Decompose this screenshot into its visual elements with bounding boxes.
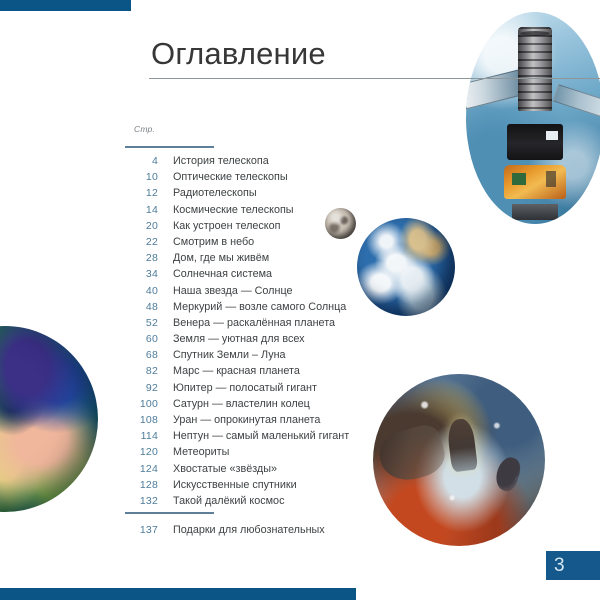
toc-entry-title: Солнечная система xyxy=(173,268,272,280)
toc-entry-page: 12 xyxy=(125,187,158,199)
page-column-label: Стр. xyxy=(134,124,155,134)
toc-entry[interactable]: 20 Как устроен телескоп xyxy=(125,220,425,236)
toc-entry-page: 108 xyxy=(125,414,158,426)
toc-entry[interactable]: 68 Спутник Земли – Луна xyxy=(125,349,425,365)
toc-entry-page: 48 xyxy=(125,301,158,313)
toc-entry-page: 114 xyxy=(125,430,158,442)
toc-entry-title: Искусственные спутники xyxy=(173,479,297,491)
toc-entry-title: Венера — раскалённая планета xyxy=(173,317,335,329)
solar-panel-right xyxy=(553,84,600,120)
toc-entry-page: 128 xyxy=(125,479,158,491)
toc-entry-title: Нептун — самый маленький гигант xyxy=(173,430,349,442)
toc-entry-page: 28 xyxy=(125,252,158,264)
telescope-gold-foil-module xyxy=(504,165,566,199)
venus-radar-globe-photo xyxy=(0,326,98,512)
nebula-dark-globule xyxy=(492,454,523,493)
page-number-badge: 3 xyxy=(546,551,600,580)
top-accent-bar xyxy=(0,0,131,11)
telescope-instrument-bay xyxy=(507,124,563,160)
page-title: Оглавление xyxy=(151,36,326,72)
toc-entry[interactable]: 14 Космические телескопы xyxy=(125,204,425,220)
toc-entry-title: Спутник Земли – Луна xyxy=(173,349,286,361)
toc-entry-title: Земля — уютная для всех xyxy=(173,333,305,345)
toc-entry-title: Уран — опрокинутая планета xyxy=(173,414,320,426)
toc-entry-page: 132 xyxy=(125,495,158,507)
toc-entry-title: Такой далёкий космос xyxy=(173,495,284,507)
toc-entry-page: 20 xyxy=(125,220,158,232)
toc-entry[interactable]: 52 Венера — раскалённая планета xyxy=(125,317,425,333)
toc-entry-page: 52 xyxy=(125,317,158,329)
toc-entry-title: Хвостатые «звёзды» xyxy=(173,463,277,475)
toc-entry[interactable]: 10 Оптические телескопы xyxy=(125,171,425,187)
toc-entry[interactable]: 4 История телескопа xyxy=(125,155,425,171)
telescope-tube-rings xyxy=(518,27,552,111)
toc-entry[interactable]: 34 Солнечная система xyxy=(125,268,425,284)
toc-entry[interactable]: 60 Земля — уютная для всех xyxy=(125,333,425,349)
toc-entry-page: 14 xyxy=(125,204,158,216)
toc-entry[interactable]: 22 Смотрим в небо xyxy=(125,236,425,252)
toc-entry[interactable]: 108 Уран — опрокинутая планета xyxy=(125,414,425,430)
toc-entry[interactable]: 114 Нептун — самый маленький гигант xyxy=(125,430,425,446)
toc-entry-title: Дом, где мы живём xyxy=(173,252,269,264)
toc-entry-title: Сатурн — властелин колец xyxy=(173,398,310,410)
toc-entry-page: 124 xyxy=(125,463,158,475)
toc-entry-page: 100 xyxy=(125,398,158,410)
toc-entry-title: Смотрим в небо xyxy=(173,236,254,248)
toc-section-divider xyxy=(125,512,214,514)
toc-entry-title: Наша звезда — Солнце xyxy=(173,285,293,297)
toc-entry[interactable]: 82 Марс — красная планета xyxy=(125,365,425,381)
toc-entry[interactable]: 12 Радиотелескопы xyxy=(125,187,425,203)
toc-entry-page: 60 xyxy=(125,333,158,345)
toc-entry-title: История телескопа xyxy=(173,155,269,167)
toc-entry[interactable]: 124 Хвостатые «звёзды» xyxy=(125,463,425,479)
toc-page: Оглавление Стр. 4 История телескопа 10 О… xyxy=(0,0,600,600)
toc-entry-title: Меркурий — возле самого Солнца xyxy=(173,301,346,313)
toc-entry-title: Как устроен телескоп xyxy=(173,220,280,232)
toc-entry-title: Метеориты xyxy=(173,446,229,458)
table-of-contents-extras: 137 Подарки для любознательных xyxy=(125,524,425,540)
page-column-divider xyxy=(125,146,214,148)
toc-entry-title: Оптические телескопы xyxy=(173,171,288,183)
toc-entry-title: Космические телескопы xyxy=(173,204,294,216)
toc-entry-page: 82 xyxy=(125,365,158,377)
toc-entry-page: 137 xyxy=(125,524,158,536)
toc-entry-page: 120 xyxy=(125,446,158,458)
toc-entry-page: 4 xyxy=(125,155,158,167)
toc-entry-title: Марс — красная планета xyxy=(173,365,300,377)
toc-entry-page: 34 xyxy=(125,268,158,280)
toc-entry[interactable]: 100 Сатурн — властелин колец xyxy=(125,398,425,414)
toc-entry-page: 22 xyxy=(125,236,158,248)
bottom-accent-bar xyxy=(0,588,356,600)
toc-entry[interactable]: 48 Меркурий — возле самого Солнца xyxy=(125,301,425,317)
toc-entry[interactable]: 40 Наша звезда — Солнце xyxy=(125,285,425,301)
toc-entry[interactable]: 92 Юпитер — полосатый гигант xyxy=(125,382,425,398)
nebula-dust-pillar-center xyxy=(446,417,478,472)
toc-entry[interactable]: 128 Искусственные спутники xyxy=(125,479,425,495)
toc-entry[interactable]: 28 Дом, где мы живём xyxy=(125,252,425,268)
toc-entry-page: 68 xyxy=(125,349,158,361)
toc-entry[interactable]: 132 Такой далёкий космос xyxy=(125,495,425,511)
table-of-contents-list: 4 История телескопа 10 Оптические телеск… xyxy=(125,155,425,511)
hubble-space-telescope-photo xyxy=(466,12,600,224)
toc-entry-page: 10 xyxy=(125,171,158,183)
toc-entry[interactable]: 120 Метеориты xyxy=(125,446,425,462)
toc-entry-title: Радиотелескопы xyxy=(173,187,257,199)
toc-entry-title: Юпитер — полосатый гигант xyxy=(173,382,317,394)
toc-entry[interactable]: 137 Подарки для любознательных xyxy=(125,524,425,540)
telescope-mount-arm xyxy=(512,204,558,220)
toc-entry-page: 92 xyxy=(125,382,158,394)
toc-entry-page: 40 xyxy=(125,285,158,297)
title-divider xyxy=(149,78,600,79)
toc-entry-title: Подарки для любознательных xyxy=(173,524,325,536)
